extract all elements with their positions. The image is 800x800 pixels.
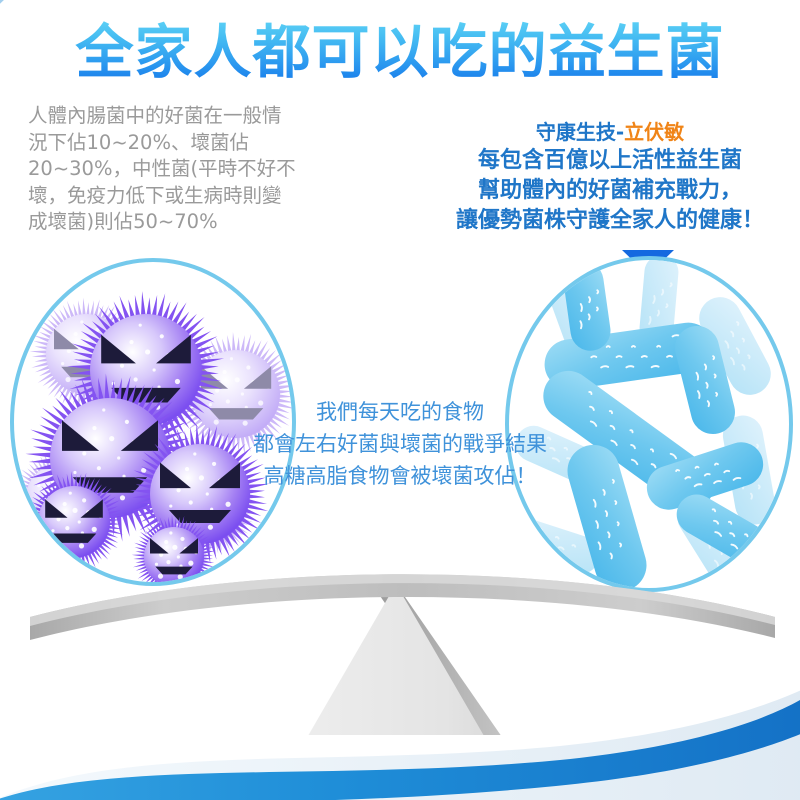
right-block-line-4: 讓優勢菌株守護全家人的健康！ (430, 206, 790, 236)
left-description-paragraph: 人體內腸菌中的好菌在一般情況下佔10~20%、壞菌佔20~30%，中性菌(平時不… (28, 103, 300, 236)
bottom-ribbon-swoosh (0, 690, 800, 800)
center-line-3: 高糖高脂食物會被壞菌攻佔！ (235, 460, 565, 492)
right-block-line-3: 幫助體內的好菌補充戰力， (430, 176, 790, 206)
right-product-block: 守康生技-立伏敏 每包含百億以上活性益生菌 幫助體內的好菌補充戰力， 讓優勢菌株… (430, 118, 790, 236)
right-block-line-2: 每包含百億以上活性益生菌 (430, 146, 790, 176)
page-title: 全家人都可以吃的益生菌 (0, 18, 800, 86)
brand-name: 守康生技- (536, 120, 624, 144)
infographic-poster: 全家人都可以吃的益生菌 人體內腸菌中的好菌在一般情況下佔10~20%、壞菌佔20… (0, 0, 800, 800)
brand-headline: 守康生技-立伏敏 (430, 118, 790, 146)
product-name: 立伏敏 (624, 120, 684, 144)
center-message: 我們每天吃的食物 都會左右好菌與壞菌的戰爭結果 高糖高脂食物會被壞菌攻佔！ (235, 396, 565, 492)
center-line-1: 我們每天吃的食物 (235, 396, 565, 428)
center-line-2: 都會左右好菌與壞菌的戰爭結果 (235, 428, 565, 460)
